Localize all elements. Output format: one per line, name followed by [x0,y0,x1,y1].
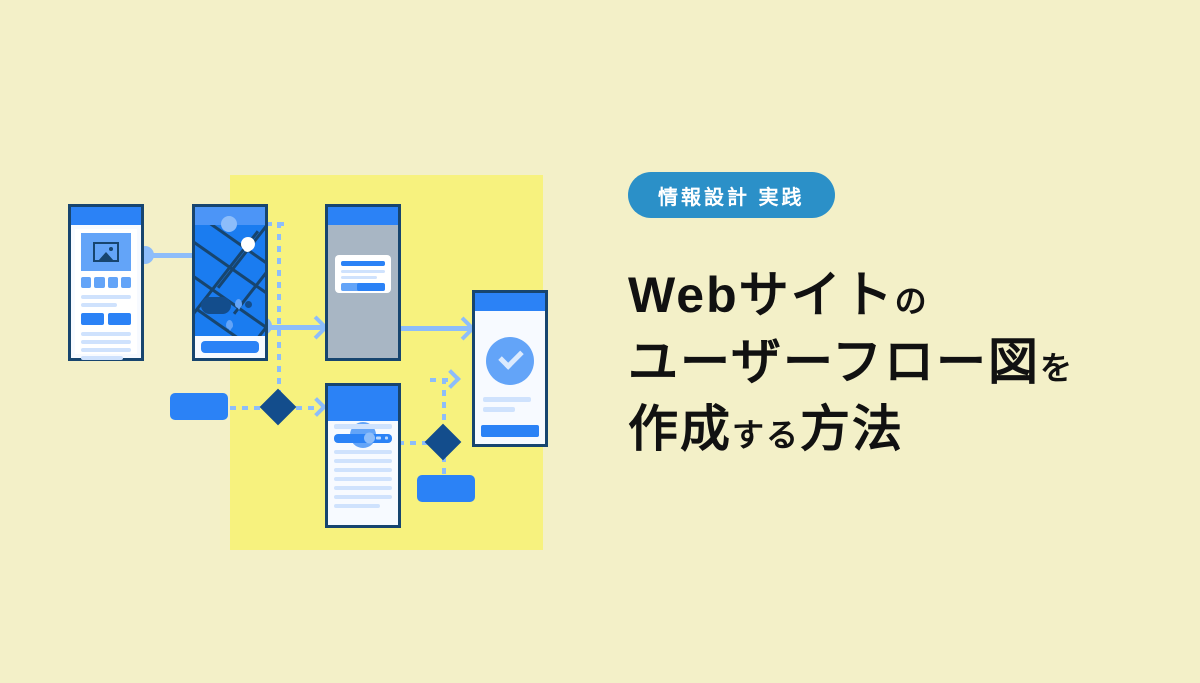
text-line [334,450,392,454]
modal-text-line [341,276,377,279]
map-park-area [201,297,231,314]
row-dash [376,437,381,440]
chip-row [81,277,131,288]
app-bar [475,293,545,311]
map-marker-navy[interactable] [245,301,252,308]
success-primary-button[interactable] [481,425,539,437]
screen-body [475,311,545,444]
title-line-2: ユーザーフロー図を [628,329,1168,396]
text-line [81,295,131,299]
secondary-button[interactable] [108,313,131,325]
map-action-button[interactable] [201,341,259,353]
phone-screen-success[interactable] [472,290,548,447]
title-line-3: 作成する方法 [628,396,1168,463]
phone-screen-content[interactable] [68,204,144,361]
title-line-3-particle: する [732,417,800,453]
text-line [483,407,515,412]
title-line-2-particle: を [1040,350,1074,386]
map-marker-white-large [241,237,255,251]
app-bar [71,207,141,225]
modal-text-line [341,270,385,273]
image-placeholder [81,233,131,271]
content-card [75,229,137,354]
primary-button[interactable] [81,313,104,325]
title-line-1-particle: の [895,283,929,319]
map-bottom-sheet [195,336,265,358]
phone-screen-profile[interactable] [325,383,401,528]
text-line [81,356,123,360]
text-line [334,495,392,499]
header-banner: 情報設計 実践 Webサイトの ユーザーフロー図を 作成する方法 [0,0,1200,683]
success-check-icon [486,337,534,385]
button-row [81,313,131,325]
text-line [81,340,131,344]
text-line [334,459,392,463]
row-knob [364,433,375,444]
text-line [81,303,117,307]
image-icon [93,242,119,262]
text-line [334,424,392,429]
text-line [483,397,531,402]
modal-dialog[interactable] [335,255,391,293]
text-line [334,477,392,481]
screen-body [328,403,398,525]
title-line-1-main: Webサイト [628,267,895,323]
header-text-column: 情報設計 実践 Webサイトの ユーザーフロー図を 作成する方法 [628,0,1168,683]
screen-body [71,225,141,358]
text-line [334,504,380,508]
text-line [334,486,392,490]
highlighted-row[interactable] [334,434,392,443]
category-badge[interactable]: 情報設計 実践 [628,172,835,218]
text-line [81,332,131,336]
map-pin[interactable] [226,320,233,329]
map-pin[interactable] [235,299,242,308]
dotted-start-to-decision [230,406,260,410]
user-flow-illustration [0,0,600,683]
connector-knob-map-top [221,216,237,232]
app-bar [328,207,398,225]
dim-overlay [328,225,398,358]
chip[interactable] [81,277,91,288]
text-line [334,468,392,472]
page-title: Webサイトの ユーザーフロー図を 作成する方法 [628,262,1168,463]
title-line-3-main: 作成 [628,401,732,457]
dotted-decision2-up [442,378,446,426]
phone-screen-modal[interactable] [325,204,401,361]
modal-title [341,261,385,266]
chip[interactable] [108,277,118,288]
chip[interactable] [94,277,104,288]
title-line-2-main: ユーザーフロー図 [628,334,1040,390]
node-end-rect[interactable] [417,475,475,502]
text-line [81,348,131,352]
title-line-1: Webサイトの [628,262,1168,329]
title-line-3-tail: 方法 [800,401,904,457]
modal-confirm-button[interactable] [357,283,385,291]
row-dash [385,437,388,440]
chip[interactable] [121,277,131,288]
dotted-vertical-left [277,222,281,408]
node-start-rect[interactable] [170,393,228,420]
